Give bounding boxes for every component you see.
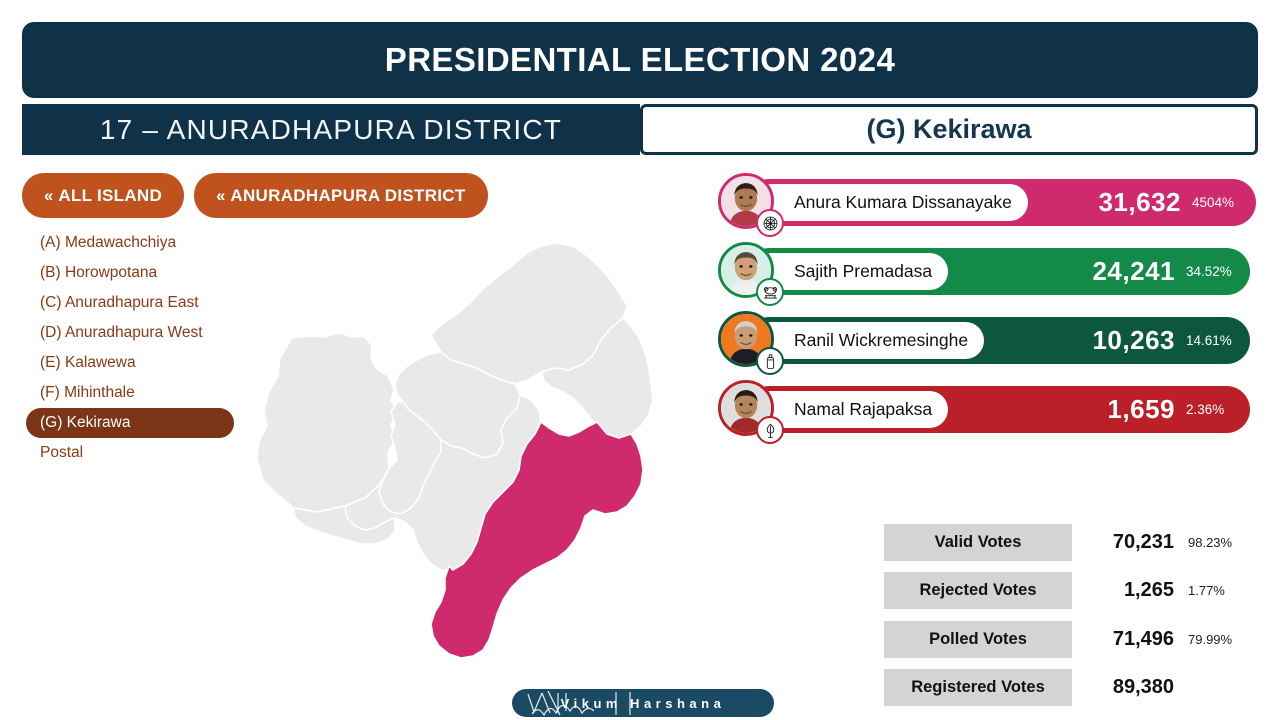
division-list-item[interactable]: (A) Medawachchiya xyxy=(26,228,241,258)
watermark-text: Vikum Harshana xyxy=(561,696,726,711)
division-list-item-label: (G) Kekirawa xyxy=(40,414,130,432)
district-map[interactable] xyxy=(245,240,710,690)
division-list-item[interactable]: (E) Kalawewa xyxy=(26,348,241,378)
candidate-votes: 10,263 xyxy=(1092,325,1175,356)
vote-summary-value: 89,380 xyxy=(1072,676,1180,699)
breadcrumb: ‹‹ ALL ISLAND ‹‹ ANURADHAPURA DISTRICT xyxy=(22,173,488,218)
candidate-percent: 34.52% xyxy=(1186,264,1238,279)
candidate-votes: 31,632 xyxy=(1098,187,1181,218)
candidate-percent: 2.36% xyxy=(1186,402,1238,417)
district-title-text: 17 – ANURADHAPURA DISTRICT xyxy=(100,114,562,146)
vote-summary-percent: 79.99% xyxy=(1180,632,1232,647)
division-list: (A) Medawachchiya(B) Horowpotana(C) Anur… xyxy=(26,228,241,468)
division-list-item[interactable]: (B) Horowpotana xyxy=(26,258,241,288)
candidate-name-pill: Anura Kumara Dissanayake xyxy=(752,184,1028,221)
candidate-result-row[interactable]: 10,26314.61%Ranil Wickremesinghe xyxy=(718,311,1258,380)
back-to-all-island-button[interactable]: ‹‹ ALL ISLAND xyxy=(22,173,184,218)
back-to-district-label: ANURADHAPURA DISTRICT xyxy=(230,186,465,206)
gas-cylinder-icon xyxy=(756,347,784,375)
candidate-result-row[interactable]: 1,6592.36%Namal Rajapaksa xyxy=(718,380,1258,449)
candidate-votes: 24,241 xyxy=(1092,256,1175,287)
page-title: PRESIDENTIAL ELECTION 2024 xyxy=(22,22,1258,98)
candidate-name: Anura Kumara Dissanayake xyxy=(794,192,1012,213)
candidate-result-row[interactable]: 24,24134.52%Sajith Premadasa xyxy=(718,242,1258,311)
telephone-icon xyxy=(756,278,784,306)
division-title: (G) Kekirawa xyxy=(640,104,1258,155)
vote-summary-value: 71,496 xyxy=(1072,628,1180,651)
division-list-item-label: (E) Kalawewa xyxy=(40,354,136,372)
division-list-item-label: Postal xyxy=(40,444,83,462)
candidate-results-list: 31,6324504%Anura Kumara Dissanayake24,24… xyxy=(718,173,1258,449)
vote-summary-label: Polled Votes xyxy=(884,621,1072,658)
vote-summary-percent: 98.23% xyxy=(1180,535,1232,550)
vote-summary-percent: 1.77% xyxy=(1180,583,1225,598)
division-list-item-label: (A) Medawachchiya xyxy=(40,234,176,252)
vote-summary-label: Rejected Votes xyxy=(884,572,1072,609)
vote-summary-table: Valid Votes70,23198.23%Rejected Votes1,2… xyxy=(884,518,1260,712)
division-list-item[interactable]: (D) Anuradhapura West xyxy=(26,318,241,348)
candidate-percent: 14.61% xyxy=(1186,333,1238,348)
candidate-percent: 4504% xyxy=(1192,195,1244,210)
division-list-item[interactable]: (G) Kekirawa xyxy=(26,408,234,438)
division-list-item[interactable]: (C) Anuradhapura East xyxy=(26,288,241,318)
division-list-item[interactable]: Postal xyxy=(26,438,241,468)
vote-summary-row: Rejected Votes1,2651.77% xyxy=(884,567,1260,616)
vote-summary-value: 70,231 xyxy=(1072,531,1180,554)
vote-summary-row: Polled Votes71,49679.99% xyxy=(884,615,1260,664)
candidate-name-pill: Ranil Wickremesinghe xyxy=(752,322,984,359)
division-list-item-label: (D) Anuradhapura West xyxy=(40,324,203,342)
flower-bud-icon xyxy=(756,416,784,444)
vote-summary-label: Valid Votes xyxy=(884,524,1072,561)
vote-summary-label: Registered Votes xyxy=(884,669,1072,706)
compass-icon xyxy=(756,209,784,237)
candidate-name: Sajith Premadasa xyxy=(794,261,932,282)
division-list-item-label: (B) Horowpotana xyxy=(40,264,157,282)
chevron-left-icon: ‹‹ xyxy=(44,186,51,206)
vote-summary-value: 1,265 xyxy=(1072,579,1180,602)
back-to-all-island-label: ALL ISLAND xyxy=(58,186,162,206)
back-to-district-button[interactable]: ‹‹ ANURADHAPURA DISTRICT xyxy=(194,173,488,218)
page-title-text: PRESIDENTIAL ELECTION 2024 xyxy=(385,41,895,79)
candidate-result-row[interactable]: 31,6324504%Anura Kumara Dissanayake xyxy=(718,173,1258,242)
candidate-name: Namal Rajapaksa xyxy=(794,399,932,420)
district-title: 17 – ANURADHAPURA DISTRICT xyxy=(22,104,640,155)
division-list-item-label: (F) Mihinthale xyxy=(40,384,135,402)
watermark: Vikum Harshana xyxy=(512,689,774,717)
division-list-item-label: (C) Anuradhapura East xyxy=(40,294,199,312)
vote-summary-row: Valid Votes70,23198.23% xyxy=(884,518,1260,567)
division-list-item[interactable]: (F) Mihinthale xyxy=(26,378,241,408)
division-title-text: (G) Kekirawa xyxy=(866,114,1031,145)
election-dashboard: PRESIDENTIAL ELECTION 2024 17 – ANURADHA… xyxy=(0,0,1280,720)
candidate-votes: 1,659 xyxy=(1107,394,1175,425)
chevron-left-icon: ‹‹ xyxy=(216,186,223,206)
candidate-name: Ranil Wickremesinghe xyxy=(794,330,968,351)
subheader: 17 – ANURADHAPURA DISTRICT (G) Kekirawa xyxy=(22,104,1258,155)
map-region-medawachchiya[interactable] xyxy=(257,333,397,512)
vote-summary-row: Registered Votes89,380 xyxy=(884,664,1260,713)
